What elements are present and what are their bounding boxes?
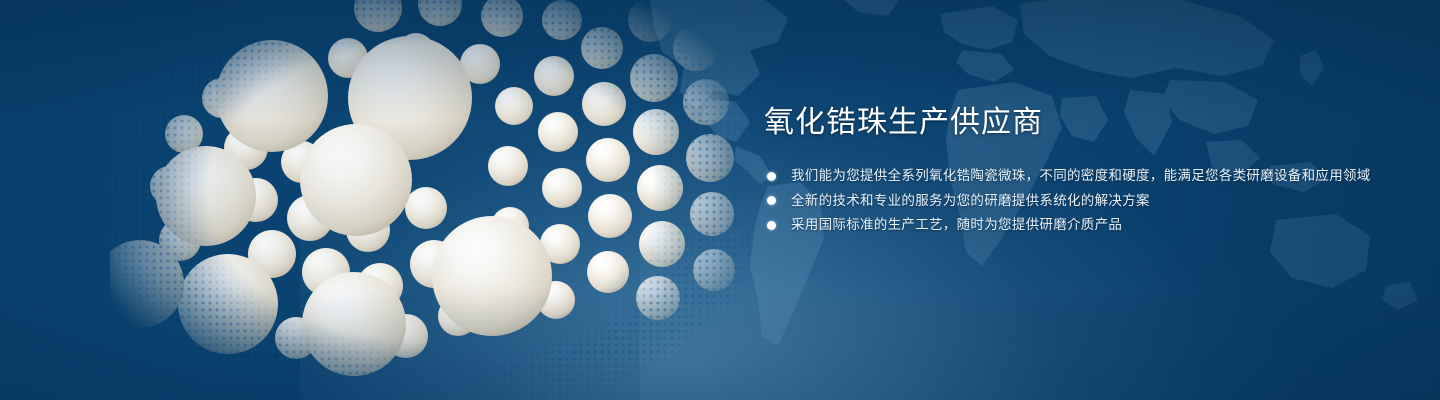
hero-banner: 氧化锆珠生产供应商 我们能为您提供全系列氧化锆陶瓷微珠，不同的密度和硬度，能满足… — [0, 0, 1440, 400]
feature-text: 全新的技术和专业的服务为您的研磨提供系统化的解决方案 — [791, 193, 1150, 208]
bullet-dot-icon — [767, 196, 776, 205]
bullet-dot-icon — [767, 221, 776, 230]
feature-list-item: 采用国际标准的生产工艺，随时为您提供研磨介质产品 — [764, 213, 1384, 237]
banner-headline: 氧化锆珠生产供应商 — [764, 104, 1384, 142]
bullet-dot-icon — [767, 172, 776, 181]
feature-list-item: 全新的技术和专业的服务为您的研磨提供系统化的解决方案 — [764, 189, 1384, 213]
feature-text: 采用国际标准的生产工艺，随时为您提供研磨介质产品 — [791, 217, 1122, 232]
feature-list: 我们能为您提供全系列氧化锆陶瓷微珠，不同的密度和硬度，能满足您各类研磨设备和应用… — [764, 164, 1384, 237]
banner-copy: 氧化锆珠生产供应商 我们能为您提供全系列氧化锆陶瓷微珠，不同的密度和硬度，能满足… — [764, 104, 1384, 238]
feature-text: 我们能为您提供全系列氧化锆陶瓷微珠，不同的密度和硬度，能满足您各类研磨设备和应用… — [791, 168, 1371, 183]
feature-list-item: 我们能为您提供全系列氧化锆陶瓷微珠，不同的密度和硬度，能满足您各类研磨设备和应用… — [764, 164, 1384, 188]
